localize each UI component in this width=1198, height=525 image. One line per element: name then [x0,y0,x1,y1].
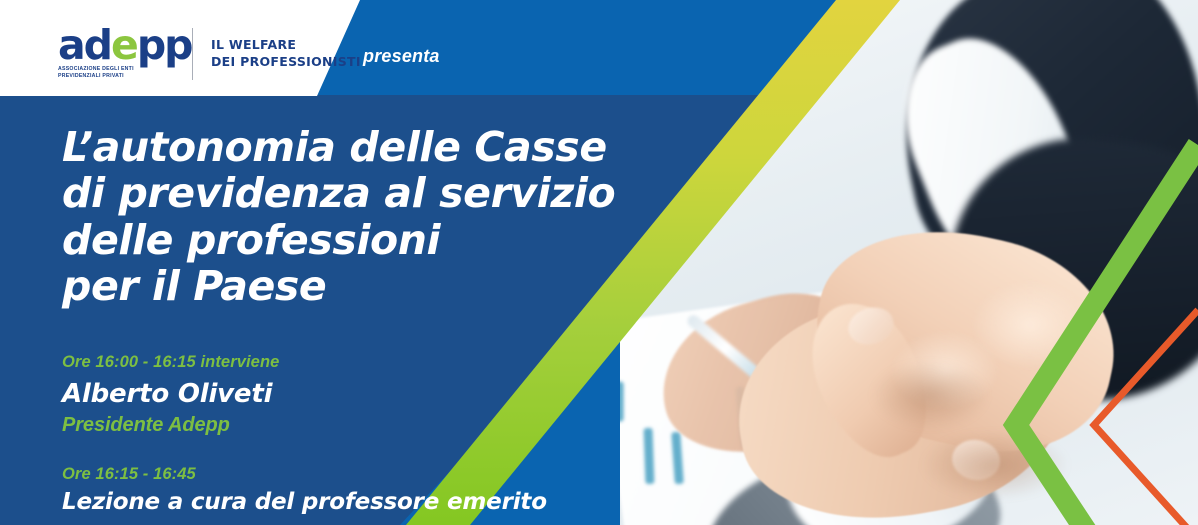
adepp-event-banner: adepp Associazione degli enti previdenzi… [0,0,1198,525]
logo-divider [192,28,193,80]
event-title-line-2: di previdenza al servizio [62,170,682,216]
logo-tagline-line2: dei professionisti [211,54,361,71]
logo-word-ad: ad [58,21,111,69]
logo-word-pp: pp [137,21,192,69]
logo-word-e: e [111,21,137,69]
logo-tagline: Il welfare dei professionisti [211,37,361,71]
event-title-line-3: delle professioni [62,217,682,263]
schedule-slot-2-time: Ore 16:15 - 16:45 [62,464,547,485]
adepp-logo: adepp Associazione degli enti previdenzi… [58,27,361,81]
event-title-line-4: per il Paese [62,263,682,309]
event-title: L’autonomia delle Casse di previdenza al… [62,124,682,309]
schedule-slot-1-role: Presidente Adepp [62,413,279,437]
event-title-line-1: L’autonomia delle Casse [62,124,682,170]
logo-mark: adepp Associazione degli enti previdenzi… [58,27,176,81]
logo-wordmark: adepp [58,27,176,65]
schedule-slot-1-time: Ore 16:00 - 16:15 interviene [62,352,279,373]
presenta-label: presenta [363,46,440,67]
schedule-slot-1: Ore 16:00 - 16:15 interviene Alberto Oli… [62,352,279,437]
schedule-slot-2: Ore 16:15 - 16:45 Lezione a cura del pro… [62,464,547,517]
schedule-slot-2-description: Lezione a cura del professore emerito [62,489,547,516]
schedule-slot-1-speaker: Alberto Oliveti [62,379,279,410]
logo-tagline-line1: Il welfare [211,37,361,54]
